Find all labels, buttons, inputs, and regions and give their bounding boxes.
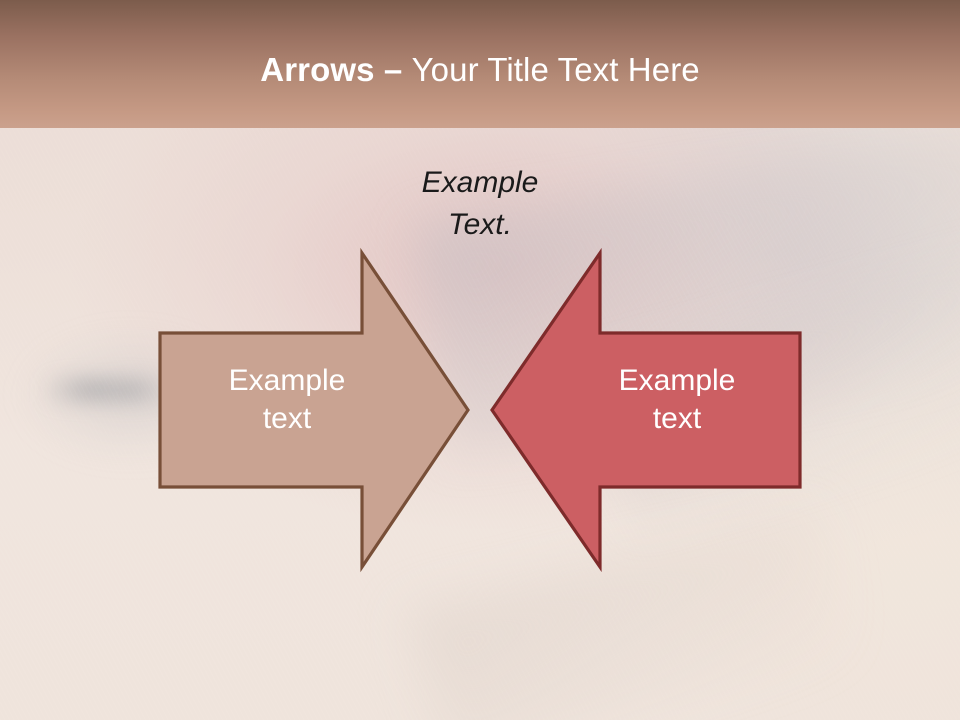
right-arrow-label-line-1: Example [566, 362, 788, 400]
right-arrow-label-line-2: text [566, 400, 788, 438]
arrows-diagram [0, 0, 960, 720]
left-arrow-label-line-2: text [176, 400, 398, 438]
left-arrow-label-line-1: Example [176, 362, 398, 400]
slide-canvas: Arrows – Your Title Text Here Example Te… [0, 0, 960, 720]
left-arrow-label: Example text [176, 362, 398, 438]
right-arrow-label: Example text [566, 362, 788, 438]
